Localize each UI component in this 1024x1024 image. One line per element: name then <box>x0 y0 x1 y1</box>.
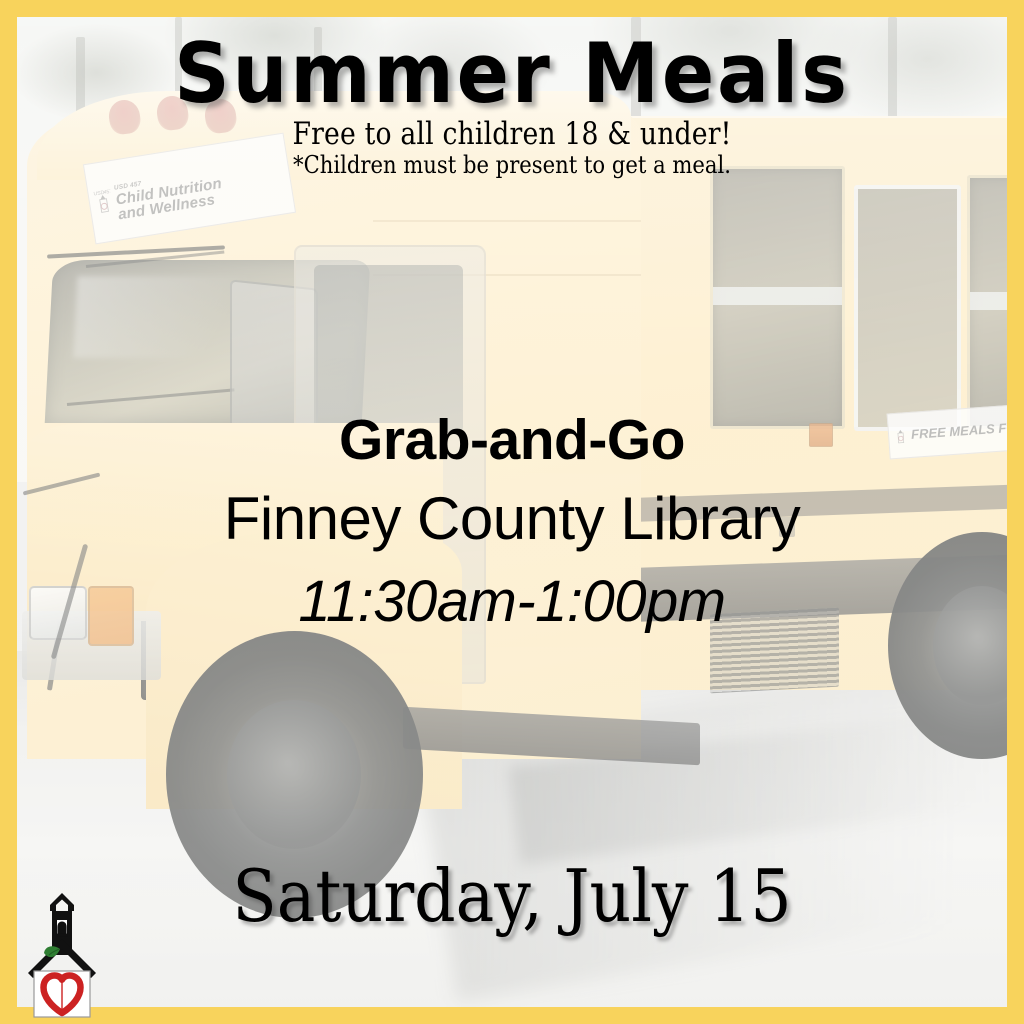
bus-turn-signal <box>88 586 134 645</box>
bus-window <box>710 166 845 429</box>
svg-text:457: 457 <box>104 188 113 195</box>
summer-meals-flyer: USD 457 USD 457 Child Nutrition and Well… <box>0 0 1024 1024</box>
bus-body-seam <box>373 220 640 222</box>
bus-cab-door-glass <box>314 265 463 433</box>
decal-apple-icon <box>894 424 909 447</box>
bus-front-wheel <box>166 631 423 918</box>
background-photo: USD 457 USD 457 Child Nutrition and Well… <box>17 17 1007 1007</box>
schoolhouse-apple-logo <box>22 871 102 1019</box>
bus-fuel-cap <box>779 517 795 537</box>
bus-decal-text: USD 457 Child Nutrition and Wellness <box>113 160 226 222</box>
bus-window <box>967 175 1007 429</box>
bus-window-open <box>854 185 961 431</box>
school-bus-scene: USD 457 USD 457 Child Nutrition and Well… <box>17 17 1007 1007</box>
bus-marker-light <box>809 423 833 447</box>
bus-decal-right-text: FREE MEALS FOR <box>911 419 1007 442</box>
bus-vent-grille <box>710 608 839 694</box>
decal-apple-icon: USD 457 <box>93 186 114 218</box>
